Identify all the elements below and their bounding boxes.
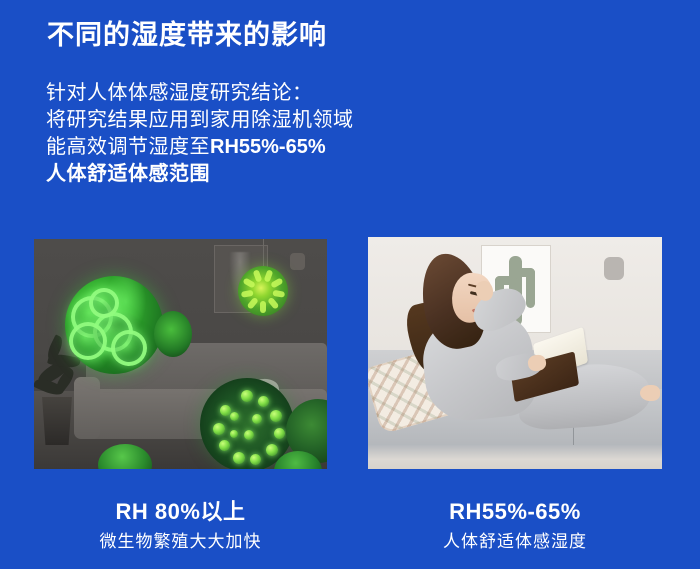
photo-mold-dark-room	[34, 239, 327, 469]
microbe-cell	[89, 288, 119, 318]
microbe-spike	[260, 301, 266, 313]
microbe-dot	[219, 440, 230, 451]
plant-pot	[40, 397, 74, 445]
microbe-dot	[213, 423, 225, 435]
microbe-cell	[111, 330, 147, 366]
microbe-sphere-small	[154, 311, 192, 357]
body-line-2: 将研究结果应用到家用除湿机领域	[46, 107, 466, 134]
microbe-dot	[230, 430, 238, 438]
microbe-cell	[69, 322, 107, 360]
cactus-arm	[495, 276, 517, 285]
caption-right: RH55%-65% 人体舒适体感湿度	[368, 498, 662, 553]
caption-left-title: RH 80%以上	[34, 498, 327, 526]
page-title: 不同的湿度带来的影响	[47, 19, 327, 51]
microbe-dot	[250, 454, 261, 465]
caption-right-subtitle: 人体舒适体感湿度	[368, 530, 662, 553]
sofa-base-light	[368, 445, 662, 469]
humidity-range-highlight: RH55%-65%	[210, 136, 326, 158]
cactus-arm	[515, 268, 535, 277]
body-line-3: 能高效调节湿度至RH55%-65%	[46, 134, 466, 161]
sofa-arm-dark	[74, 377, 100, 439]
microbe-sphere-large	[65, 276, 163, 374]
microbe-spike	[242, 277, 255, 288]
microbe-dot	[241, 390, 253, 402]
wall-knob-light	[604, 257, 624, 280]
caption-right-title: RH55%-65%	[368, 498, 662, 526]
microbe-spike	[272, 290, 285, 298]
wall-knob-dark	[290, 253, 305, 270]
microbe-dot	[233, 452, 245, 464]
woman-foot	[640, 385, 660, 401]
body-line-1: 针对人体体感湿度研究结论：	[46, 80, 466, 107]
microbe-spike	[267, 297, 279, 310]
microbe-spike	[264, 269, 274, 282]
microbe-dot	[258, 396, 269, 407]
body-copy-block: 针对人体体感湿度研究结论： 将研究结果应用到家用除湿机领域 能高效调节湿度至RH…	[46, 80, 466, 188]
microbe-spike	[241, 290, 254, 298]
microbe-dot	[230, 412, 239, 421]
humidity-effects-poster: 不同的湿度带来的影响 针对人体体感湿度研究结论： 将研究结果应用到家用除湿机领域…	[0, 0, 700, 569]
photo-woman-reading	[368, 237, 662, 469]
microbe-sphere-spiky	[238, 266, 288, 316]
microbe-dot	[266, 444, 278, 456]
caption-left-subtitle: 微生物繁殖大大加快	[34, 530, 327, 553]
body-line-4: 人体舒适体感范围	[46, 161, 466, 188]
microbe-dot	[252, 414, 262, 424]
caption-left: RH 80%以上 微生物繁殖大大加快	[34, 498, 327, 553]
microbe-dot	[274, 428, 285, 439]
microbe-sphere-dotted	[200, 378, 294, 469]
microbe-dot	[270, 410, 282, 422]
body-line-3-prefix: 能高效调节湿度至	[46, 136, 210, 158]
microbe-spike	[270, 277, 283, 288]
microbe-spike	[253, 269, 263, 282]
microbe-spike	[247, 297, 259, 310]
microbe-dot	[244, 430, 254, 440]
light-room-backdrop	[368, 237, 662, 469]
